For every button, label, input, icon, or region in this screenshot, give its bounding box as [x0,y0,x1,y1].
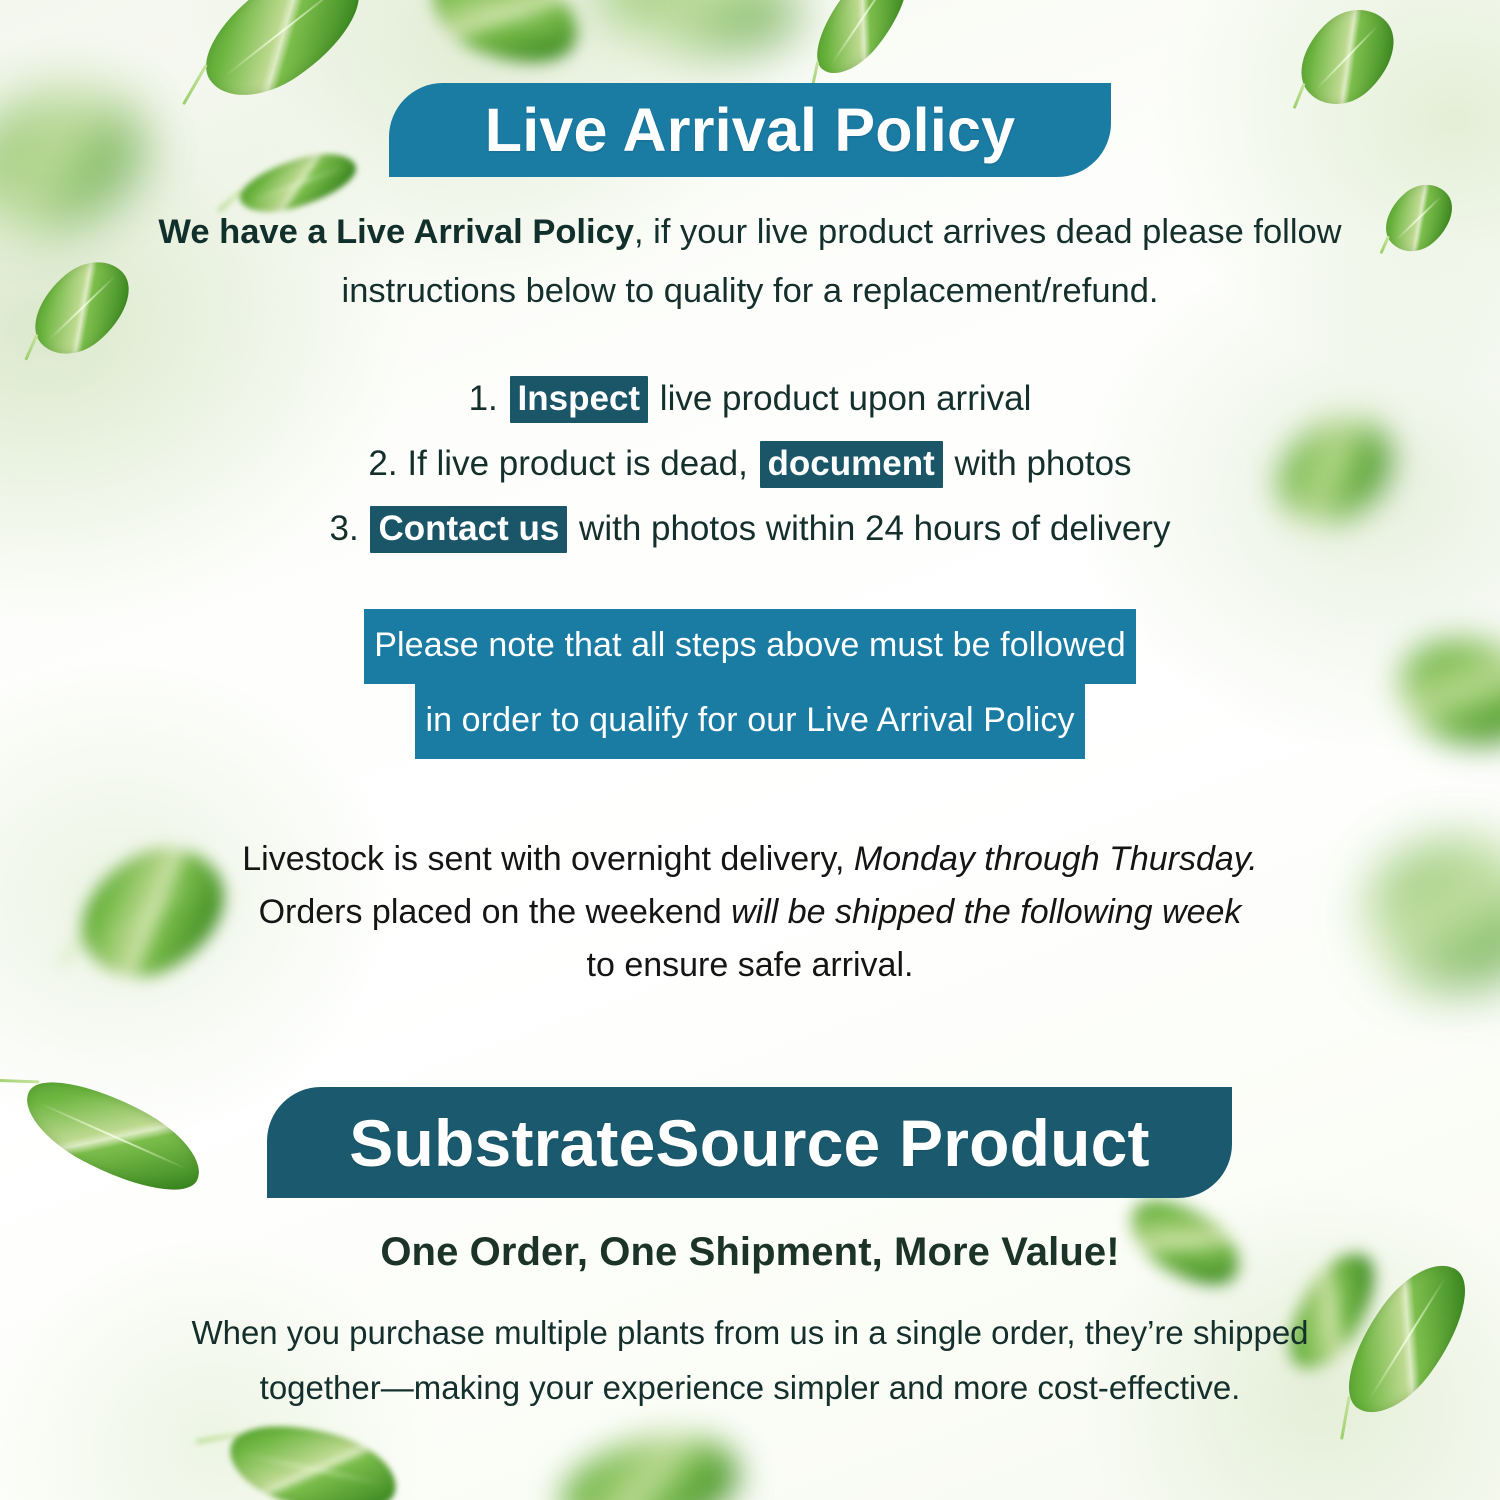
leaf-icon [1358,826,1500,1004]
step-highlight-inspect: Inspect [510,376,649,423]
leaf-icon [1373,173,1466,263]
policy-note-line-1: Please note that all steps above must be… [364,609,1135,684]
leaf-icon [12,1060,214,1213]
leaf-icon [552,1422,748,1500]
leaf-stem [24,333,38,360]
leaf-stem [0,1079,40,1084]
step-item-2: 2. If live product is dead, document wit… [150,431,1350,496]
leaf-icon [184,0,381,118]
substratesource-product-title: SubstrateSource Product [349,1105,1149,1181]
steps-list: 1. Inspect live product upon arrival 2. … [150,366,1350,561]
shipping-line-2-italic: will be shipped the following week [731,893,1241,931]
value-prop-body: When you purchase multiple plants from u… [130,1305,1370,1415]
policy-note-line-2: in order to qualify for our Live Arrival… [415,684,1084,759]
leaf-icon [1282,0,1412,121]
intro-bold-lead: We have a Live Arrival Policy [158,213,634,251]
leaf-icon [1387,621,1500,764]
leaf-icon [419,0,590,83]
step-text: with photos [945,444,1132,483]
step-text-before [359,509,369,548]
step-item-3: 3. Contact us with photos within 24 hour… [150,496,1350,561]
leaf-icon [595,0,806,63]
live-arrival-policy-title: Live Arrival Policy [485,95,1015,165]
leaf-icon [17,246,146,371]
leaf-icon [800,0,925,87]
leaf-stem [60,933,85,966]
shipping-line-1-plain: Livestock is sent with overnight deliver… [242,840,854,878]
leaf-stem [195,1433,239,1444]
live-arrival-policy-infographic: Live Arrival Policy We have a Live Arriv… [0,0,1500,1500]
shipping-line-3-plain: to ensure safe arrival. [587,946,914,984]
step-text: with photos within 24 hours of delivery [569,509,1170,548]
step-highlight-contact-us: Contact us [370,506,567,553]
live-arrival-policy-banner: Live Arrival Policy [389,83,1111,177]
substratesource-product-banner: SubstrateSource Product [267,1087,1232,1198]
leaf-stem [182,65,207,106]
value-prop-heading: One Order, One Shipment, More Value! [150,1230,1350,1275]
leaf-icon [0,71,161,249]
intro-paragraph: We have a Live Arrival Policy, if your l… [150,203,1350,321]
step-item-1: 1. Inspect live product upon arrival [150,366,1350,431]
shipping-schedule-paragraph: Livestock is sent with overnight deliver… [150,833,1350,992]
shipping-line-2-plain: Orders placed on the weekend [259,893,732,931]
shipping-line-1-italic: Monday through Thursday. [854,840,1258,878]
step-number: 3. [330,509,359,548]
leaf-icon [221,1408,406,1500]
leaf-stem [1293,83,1306,109]
leaf-stem [1379,235,1390,254]
step-number: 1. [469,379,498,418]
step-number: 2. [368,444,397,483]
step-highlight-document: document [760,441,943,488]
policy-note-block: Please note that all steps above must be… [150,609,1350,759]
step-text-before: If live product is dead, [398,444,758,483]
step-text: live product upon arrival [650,379,1031,418]
